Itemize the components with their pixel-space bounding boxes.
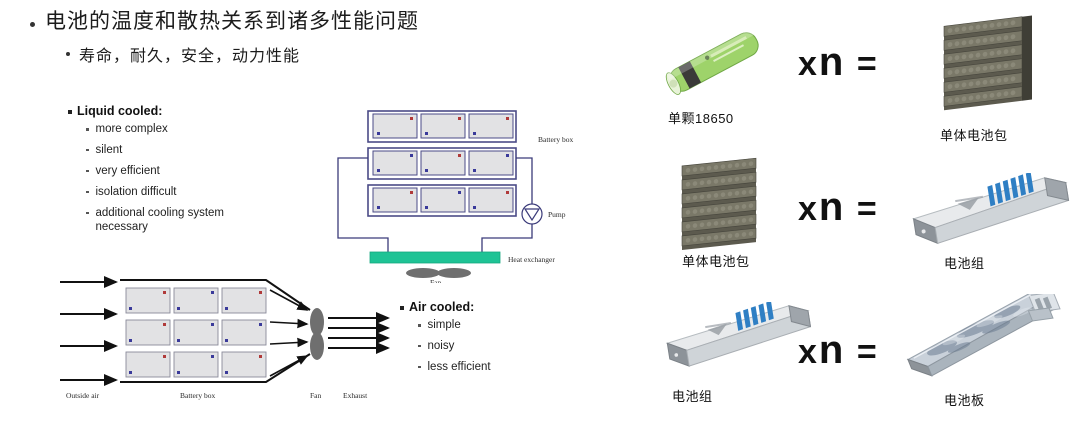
air-cooled-heading: Air cooled: — [400, 300, 491, 314]
battery-box-rows — [368, 111, 516, 216]
equals-symbol: = — [857, 45, 879, 83]
equation-operator-1: xn = — [798, 40, 879, 85]
label-fan: Fan — [430, 278, 442, 283]
dot-bullet-icon — [86, 170, 89, 173]
n-symbol: n — [819, 185, 845, 229]
dot-bullet-icon — [418, 324, 421, 327]
list-item: more complex — [86, 122, 246, 136]
caption-row1-left: 单颗18650 — [668, 108, 734, 127]
equals-symbol: = — [857, 333, 879, 371]
liquid-cooled-list: Liquid cooled: more complex silent very … — [68, 104, 246, 241]
label-pump: Pump — [548, 210, 566, 219]
bullet-icon — [30, 22, 35, 27]
dot-bullet-icon — [418, 345, 421, 348]
pump-icon — [522, 204, 542, 224]
liquid-cooled-heading: Liquid cooled: — [68, 104, 246, 118]
dot-bullet-icon — [86, 212, 89, 215]
slide-title: 电池的温度和散热关系到诸多性能问题 — [30, 8, 419, 35]
dot-bullet-icon — [86, 128, 89, 131]
caption-row1-right: 单体电池包 — [940, 125, 1008, 144]
slide-root: 电池的温度和散热关系到诸多性能问题 寿命，耐久，安全，动力性能 Liquid c… — [0, 0, 1080, 433]
slide-subtitle-text: 寿命，耐久，安全，动力性能 — [79, 42, 300, 66]
equals-symbol: = — [857, 190, 879, 228]
caption-row2-left: 单体电池包 — [682, 251, 750, 270]
inlet-arrows — [60, 282, 116, 380]
cell-pack-image — [930, 10, 1040, 127]
liquid-cooling-diagram: Battery box Pump Heat exchanger Fan — [330, 108, 595, 283]
fan-icon — [406, 268, 471, 278]
label-battery-box: Battery box — [180, 391, 215, 400]
caption-row2-right: 电池组 — [944, 253, 985, 272]
battery-module-image — [900, 173, 1078, 264]
n-symbol: n — [819, 328, 845, 372]
battery-scaling-panel: xn = — [648, 0, 1080, 433]
cell-pack-image — [672, 151, 772, 264]
exhaust-arrows — [328, 318, 388, 348]
air-cooling-diagram: Outside air Battery box Fan Exhaust — [58, 272, 398, 402]
n-symbol: n — [819, 40, 845, 84]
air-cooled-heading-text: Air cooled: — [409, 300, 474, 314]
list-item: simple — [418, 318, 491, 332]
list-item: less efficient — [418, 360, 491, 374]
list-item: additional cooling system necessary — [86, 206, 246, 235]
multiply-symbol: x — [798, 190, 819, 228]
multiply-symbol: x — [798, 45, 819, 83]
slide-title-text: 电池的温度和散热关系到诸多性能问题 — [45, 8, 419, 35]
dot-bullet-icon — [86, 191, 89, 194]
square-bullet-icon — [400, 306, 404, 310]
battery-pack-image — [898, 294, 1080, 399]
list-item: very efficient — [86, 164, 246, 178]
list-item: silent — [86, 143, 246, 157]
multiply-symbol: x — [798, 333, 819, 371]
heat-exchanger-bar — [370, 252, 500, 263]
equation-operator-2: xn = — [798, 185, 879, 230]
scaling-row-1: xn = — [648, 0, 1080, 144]
fan-icon — [310, 308, 324, 360]
list-item: noisy — [418, 339, 491, 353]
dot-bullet-icon — [86, 149, 89, 152]
liquid-cooled-heading-text: Liquid cooled: — [77, 104, 162, 118]
dot-bullet-icon — [418, 366, 421, 369]
battery-cells — [126, 288, 266, 377]
converging-arrows — [270, 290, 307, 376]
list-item: isolation difficult — [86, 185, 246, 199]
square-bullet-icon — [68, 110, 72, 114]
caption-row3-right: 电池板 — [944, 390, 985, 409]
caption-row3-left: 电池组 — [672, 386, 713, 405]
label-battery-box: Battery box — [538, 135, 573, 144]
scaling-row-3: xn = — [648, 286, 1080, 430]
bullet-icon — [66, 52, 70, 56]
label-fan: Fan — [310, 391, 322, 400]
label-outside-air: Outside air — [66, 391, 100, 400]
scaling-row-2: xn = — [648, 143, 1080, 287]
air-cooled-list: Air cooled: simple noisy less efficient — [400, 300, 491, 381]
label-heat-exchanger: Heat exchanger — [508, 255, 555, 264]
slide-subtitle: 寿命，耐久，安全，动力性能 — [66, 42, 300, 66]
equation-operator-3: xn = — [798, 328, 879, 373]
cell-18650-image — [654, 14, 774, 114]
label-exhaust: Exhaust — [343, 391, 368, 400]
